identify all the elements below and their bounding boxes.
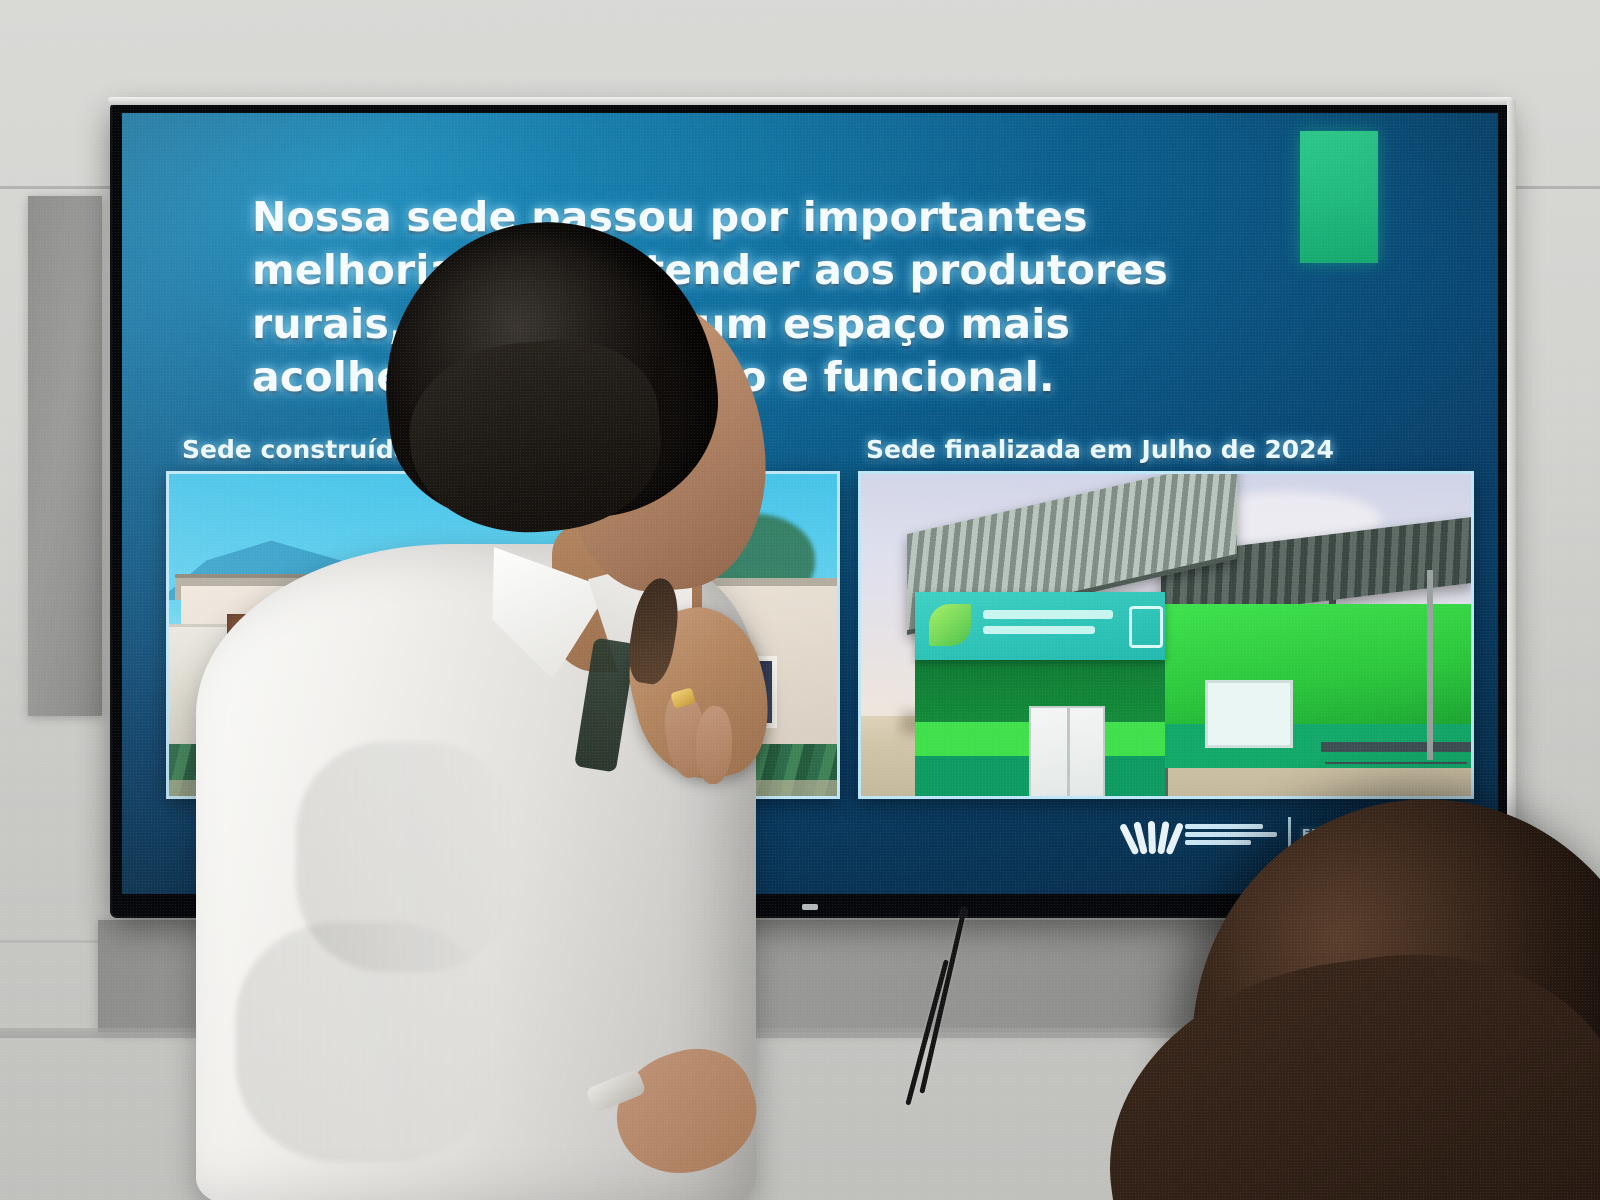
tv-top-edge	[108, 97, 1512, 105]
photo-bench	[1321, 742, 1471, 752]
leaf-icon	[929, 604, 971, 646]
presenter-person	[196, 222, 796, 1200]
photo-new-headquarters	[858, 471, 1474, 799]
clasped-hands-icon	[1132, 814, 1174, 854]
photo-window	[1205, 680, 1293, 748]
sign-badge	[1129, 606, 1163, 648]
power-led-icon	[802, 904, 818, 910]
presentation-room-scene: Nossa sede passou por importantes melhor…	[0, 0, 1600, 1200]
photo-entrance-door	[1029, 706, 1105, 799]
org-name-block	[1185, 824, 1277, 845]
photo-building-sign	[915, 592, 1165, 660]
caption-right: Sede finalizada em Julho de 2024	[866, 435, 1334, 464]
sign-text-bar	[983, 610, 1113, 619]
tv-right-edge	[1507, 100, 1516, 910]
photo-utility-pole	[1427, 570, 1433, 760]
wall-panel	[28, 196, 102, 716]
sign-text-bar	[983, 626, 1095, 634]
accent-rectangle	[1300, 131, 1378, 263]
